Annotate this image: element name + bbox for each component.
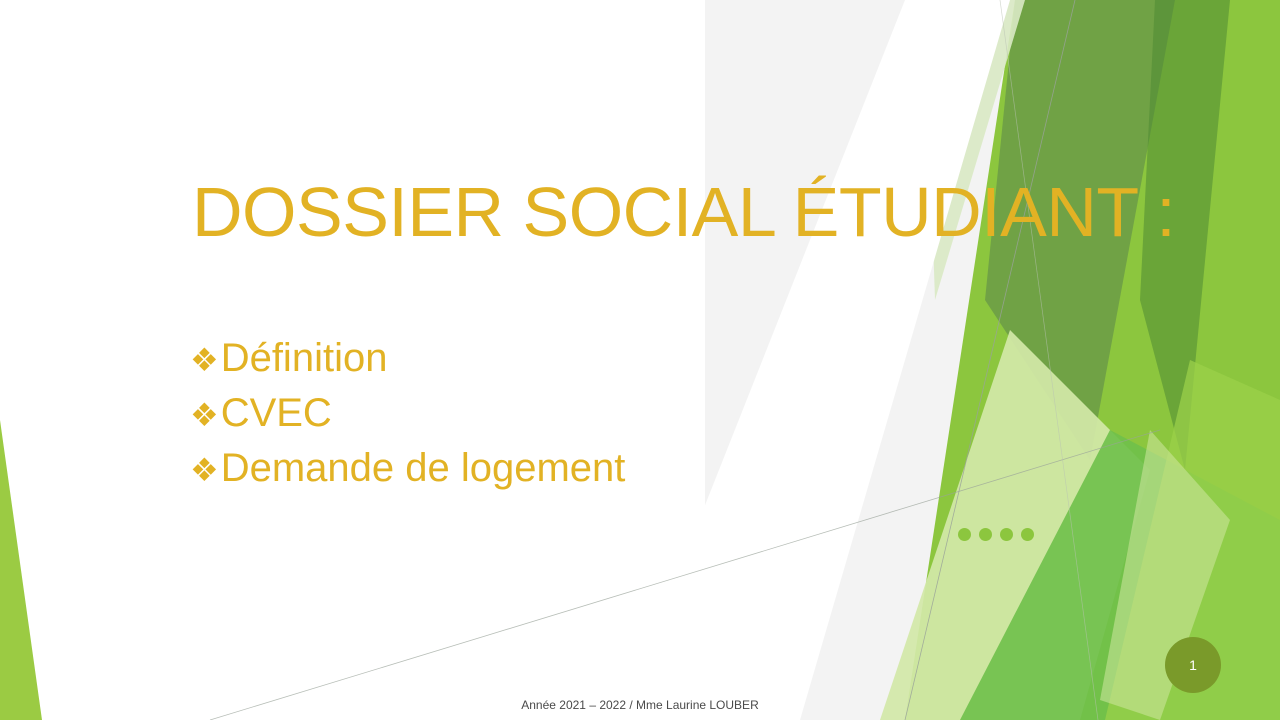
diamond-bullet-icon: ❖ bbox=[190, 389, 219, 442]
ornament-dot-icon bbox=[1021, 528, 1034, 541]
diamond-bullet-icon: ❖ bbox=[190, 444, 219, 497]
green-wedge-bottom-left bbox=[0, 420, 42, 720]
slide-footer: Année 2021 – 2022 / Mme Laurine LOUBER bbox=[0, 697, 1280, 713]
ornament-dot-icon bbox=[958, 528, 971, 541]
list-item: ❖ CVEC bbox=[190, 387, 810, 442]
bullet-list: ❖ Définition ❖ CVEC ❖ Demande de logemen… bbox=[190, 332, 810, 497]
list-item-label: CVEC bbox=[221, 387, 332, 440]
hairline-diagonal-3 bbox=[1000, 0, 1098, 720]
presentation-slide: DOSSIER SOCIAL ÉTUDIANT : ❖ Définition ❖… bbox=[0, 0, 1280, 720]
page-title: DOSSIER SOCIAL ÉTUDIANT : bbox=[192, 168, 1192, 256]
slide-number-text: 1 bbox=[1189, 658, 1197, 672]
ornament-dot-icon bbox=[979, 528, 992, 541]
list-item-label: Définition bbox=[221, 332, 388, 385]
ornament-dot-icon bbox=[1000, 528, 1013, 541]
list-item: ❖ Demande de logement bbox=[190, 442, 810, 497]
dots-ornament bbox=[958, 528, 1034, 541]
green-band-right bbox=[905, 0, 1280, 720]
hairline-diagonal-1 bbox=[905, 0, 1075, 720]
list-item-label: Demande de logement bbox=[221, 442, 626, 495]
list-item: ❖ Définition bbox=[190, 332, 810, 387]
diamond-bullet-icon: ❖ bbox=[190, 334, 219, 387]
title-block: DOSSIER SOCIAL ÉTUDIANT : bbox=[192, 168, 1192, 258]
slide-number-badge: 1 bbox=[1165, 637, 1221, 693]
pale-green-wedge-lower bbox=[880, 330, 1150, 720]
green-wedge-lower bbox=[960, 430, 1280, 720]
